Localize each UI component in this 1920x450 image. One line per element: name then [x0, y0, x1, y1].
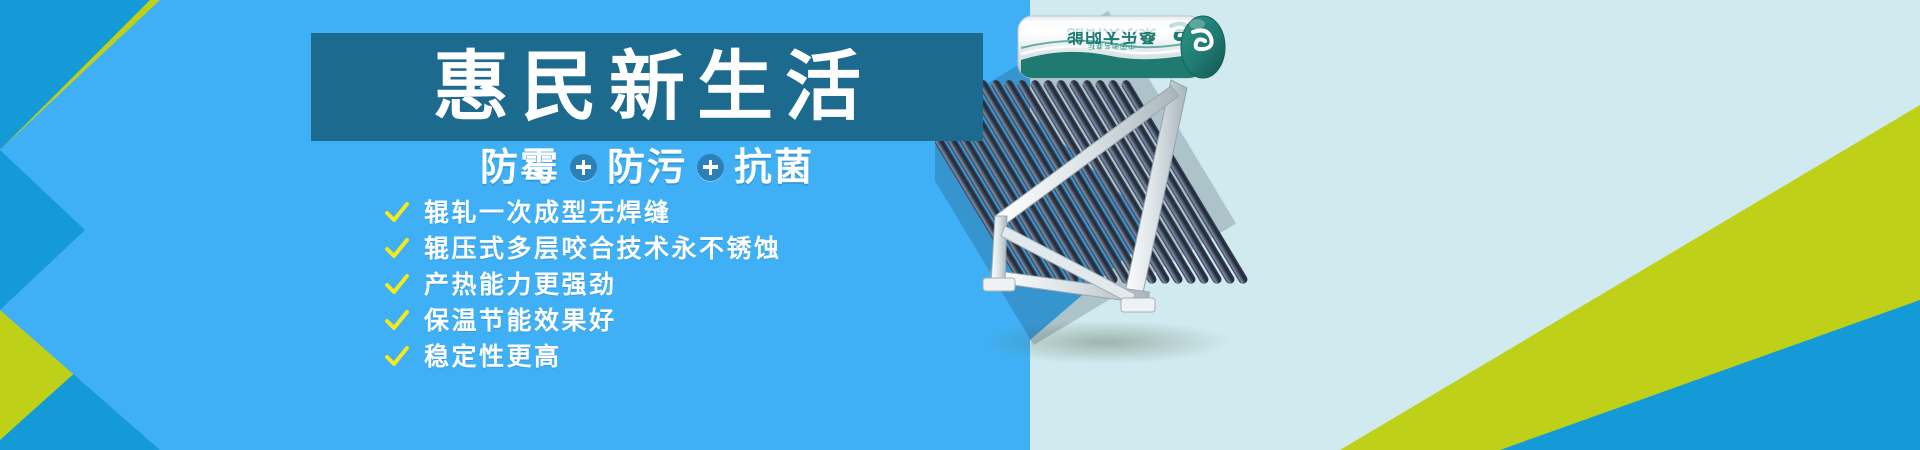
check-icon — [384, 344, 410, 370]
list-item: 辊轧一次成型无焊缝 — [384, 196, 782, 229]
headline-plate: 惠民新生活 — [311, 33, 983, 141]
list-item-label: 辊轧一次成型无焊缝 — [424, 200, 672, 225]
tagline-word-1: 防霉 — [480, 148, 560, 186]
tagline: 防霉 防污 抗菌 — [311, 148, 983, 186]
product-illustration: 桑乐太阳能 中国驰名商标 — [935, 2, 1295, 372]
product-shadow — [980, 320, 1230, 364]
page-title: 惠民新生活 — [421, 49, 873, 125]
list-item: 保温节能效果好 — [384, 304, 782, 337]
svg-text:中国驰名商标: 中国驰名商标 — [1087, 42, 1135, 51]
tagline-word-2: 防污 — [607, 148, 687, 186]
check-icon — [384, 236, 410, 262]
plus-icon — [697, 154, 724, 181]
check-icon — [384, 200, 410, 226]
promo-banner: 桑乐太阳能 中国驰名商标 惠民新生活 防霉 防污 抗菌 — [0, 0, 1920, 450]
check-icon — [384, 272, 410, 298]
feature-list: 辊轧一次成型无焊缝 辊压式多层咬合技术永不锈蚀 产热能力更强劲 保温节能效果好 — [384, 196, 782, 376]
solar-water-heater-image: 桑乐太阳能 中国驰名商标 — [935, 2, 1295, 372]
list-item: 辊压式多层咬合技术永不锈蚀 — [384, 232, 782, 265]
tagline-word-3: 抗菌 — [734, 148, 814, 186]
list-item-label: 稳定性更高 — [424, 344, 562, 369]
storage-tank: 桑乐太阳能 中国驰名商标 — [1018, 16, 1225, 80]
list-item-label: 保温节能效果好 — [424, 308, 617, 333]
list-item-label: 辊压式多层咬合技术永不锈蚀 — [424, 236, 782, 261]
check-icon — [384, 308, 410, 334]
list-item-label: 产热能力更强劲 — [424, 272, 617, 297]
plus-icon — [570, 154, 597, 181]
list-item: 稳定性更高 — [384, 340, 782, 373]
list-item: 产热能力更强劲 — [384, 268, 782, 301]
